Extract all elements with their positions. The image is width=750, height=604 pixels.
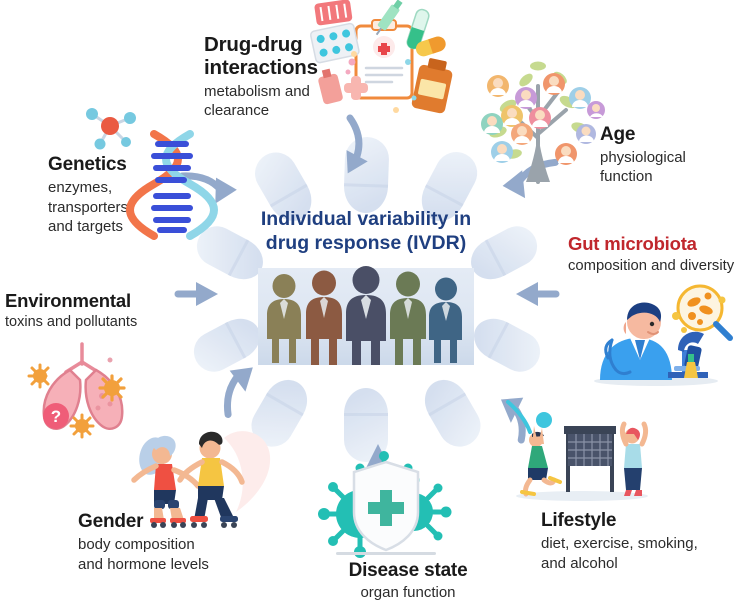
person-silhouette: [306, 271, 342, 366]
arrow-right: [516, 282, 556, 306]
person-silhouette: [346, 266, 386, 365]
skater-woman: [134, 436, 198, 528]
family-tree-icon: [468, 58, 608, 184]
person-silhouette: [429, 278, 462, 364]
arrow-left: [178, 282, 218, 306]
scientist-microscope-icon: [586, 282, 726, 386]
svg-text:?: ?: [51, 407, 61, 426]
player-right: [622, 424, 645, 496]
player-left: [522, 426, 560, 494]
person-silhouette: [267, 274, 301, 363]
family-avatar: [481, 73, 605, 165]
molecule-icon: [82, 104, 138, 152]
center-title: Individual variability in drug response …: [236, 207, 496, 255]
diagram-canvas: Individual variability in drug response …: [0, 0, 750, 604]
pills-clipboard-icon: [296, 2, 486, 120]
center-title-line2: drug response (IVDR): [236, 231, 496, 255]
center-title-line1: Individual variability in: [236, 207, 496, 231]
central-people-graphic: [258, 268, 474, 365]
person-silhouette: [390, 272, 426, 366]
volleyball-players-icon: [506, 396, 658, 502]
dna-helix-icon: [140, 132, 204, 240]
virus-shield-icon: [318, 438, 454, 560]
roller-skaters-icon: [128, 412, 288, 528]
